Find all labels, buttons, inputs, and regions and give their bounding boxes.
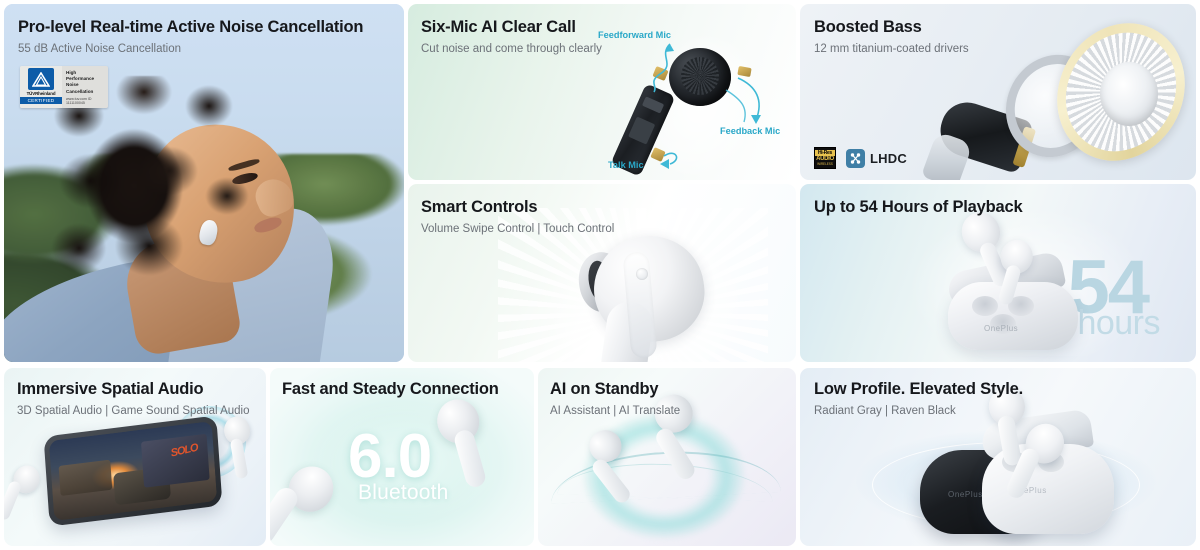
game-scenery-right — [141, 434, 210, 488]
touch-control-indicator — [636, 268, 648, 280]
panel-subtitle: 3D Spatial Audio | Game Sound Spatial Au… — [17, 405, 266, 417]
tuv-badge-certified: CERTIFIED — [20, 97, 62, 104]
panel-title: Boosted Bass — [814, 18, 1196, 37]
panel-subtitle: 12 mm titanium-coated drivers — [814, 43, 1196, 55]
lhdc-icon — [846, 149, 865, 168]
panel-ai-on-standby: AI on Standby AI Assistant | AI Translat… — [538, 368, 796, 546]
label-feedforward-mic: Feedforward Mic — [598, 30, 671, 40]
driver-dome — [1100, 62, 1158, 126]
panel-smart-controls: Smart Controls Volume Swipe Control | To… — [408, 184, 796, 362]
audio-certification-badges: Hi-Res AUDIO WIRELESS LHDC — [814, 147, 907, 169]
phone-screen: SOLO — [49, 421, 217, 521]
panel-low-profile-elevated-style: OnePlus OnePlus Low Profile. Elevated St… — [800, 368, 1196, 546]
hours-text-block: Up to 54 Hours of Playback — [800, 184, 1196, 217]
panel-title: Up to 54 Hours of Playback — [814, 198, 1196, 217]
panel-title: Smart Controls — [421, 198, 796, 217]
hi-res-audio-badge: Hi-Res AUDIO WIRELESS — [814, 147, 836, 169]
label-talk-mic: Talk Mic — [608, 160, 644, 170]
panel-subtitle: Radiant Gray | Raven Black — [814, 405, 1196, 417]
panel-title: Low Profile. Elevated Style. — [814, 380, 1196, 399]
game-scenery-left — [59, 460, 113, 496]
tuv-triangle-icon — [28, 68, 54, 90]
panel-playback-hours: 54 hours OnePlus Up to 54 Hours of Playb… — [800, 184, 1196, 362]
bluetooth-label: Bluetooth — [358, 482, 449, 503]
panel-immersive-spatial-audio: SOLO Immersive Spatial Audio 3D Spatial … — [4, 368, 266, 546]
lhdc-badge: LHDC — [846, 149, 907, 168]
bass-text-block: Boosted Bass 12 mm titanium-coated drive… — [800, 4, 1196, 55]
case-brand-label: OnePlus — [984, 324, 1018, 333]
label-feedback-mic: Feedback Mic — [720, 126, 780, 136]
tuv-rheinland-badge: TÜVRheinland CERTIFIED High Performance … — [20, 66, 108, 108]
panel-title: Pro-level Real-time Active Noise Cancell… — [18, 18, 404, 37]
panel-subtitle: Volume Swipe Control | Touch Control — [421, 223, 796, 235]
panel-subtitle: AI Assistant | AI Translate — [550, 405, 796, 417]
tuv-badge-right: High Performance Noise Cancellation www.… — [62, 66, 108, 108]
tuv-badge-left: TÜVRheinland CERTIFIED — [20, 66, 62, 108]
tuv-badge-name: TÜVRheinland — [27, 91, 56, 96]
panel-title: Immersive Spatial Audio — [17, 380, 266, 399]
tuv-badge-footer: www.tuv.com ID 1111100045 — [66, 97, 105, 106]
tuv-badge-claim: High Performance Noise Cancellation — [66, 70, 105, 95]
style-text-block: Low Profile. Elevated Style. Radiant Gra… — [800, 368, 1196, 417]
panel-boosted-bass: Boosted Bass 12 mm titanium-coated drive… — [800, 4, 1196, 180]
smartphone-landscape: SOLO — [44, 415, 223, 526]
panel-fast-steady-connection: 6.0 Bluetooth Fast and Steady Connection — [270, 368, 534, 546]
bluetooth-version-number: 6.0 — [348, 426, 431, 488]
lhdc-label: LHDC — [870, 151, 907, 166]
earbud-stalk — [4, 480, 22, 522]
case-brand-label: OnePlus — [948, 490, 983, 499]
bluetooth-text-block: Fast and Steady Connection — [270, 368, 534, 399]
person-curly-hair — [49, 76, 274, 291]
ai-text-block: AI on Standby AI Assistant | AI Translat… — [538, 368, 796, 417]
panel-title: AI on Standby — [550, 380, 796, 399]
panel-active-noise-cancellation: Pro-level Real-time Active Noise Cancell… — [4, 4, 404, 362]
smart-text-block: Smart Controls Volume Swipe Control | To… — [408, 184, 796, 235]
panel-six-mic-ai-clear-call: Feedforward Mic Feedback Mic Talk Mic Si… — [408, 4, 796, 180]
spatial-text-block: Immersive Spatial Audio 3D Spatial Audio… — [4, 368, 266, 417]
case-slot-left — [972, 296, 998, 316]
panel-subtitle: 55 dB Active Noise Cancellation — [18, 43, 404, 55]
hi-res-line3: WIRELESS — [817, 162, 833, 166]
anc-text-block: Pro-level Real-time Active Noise Cancell… — [4, 4, 404, 55]
hours-word: hours — [1077, 306, 1160, 340]
feature-grid: Pro-level Real-time Active Noise Cancell… — [0, 0, 1200, 550]
panel-title: Fast and Steady Connection — [282, 380, 534, 399]
